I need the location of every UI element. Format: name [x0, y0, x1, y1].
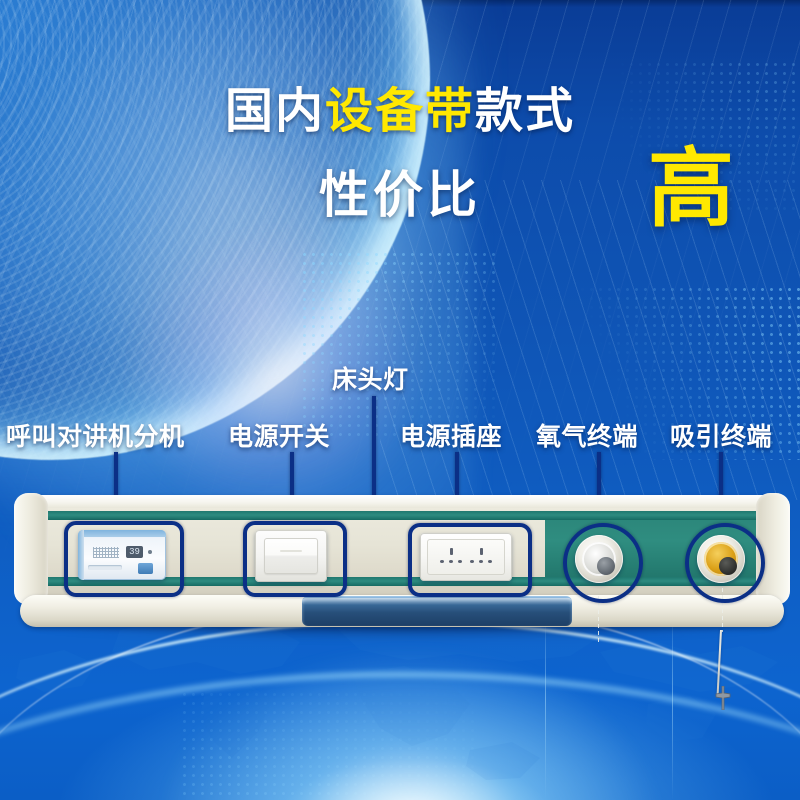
- callout-label-bed-lamp: 床头灯: [332, 360, 409, 396]
- highlight-circle-oxygen: [563, 523, 643, 603]
- callout-label-power-switch: 电源开关: [228, 417, 330, 453]
- halftone-dots-left: [300, 250, 500, 440]
- highlight-circle-suction: [685, 523, 765, 603]
- oxygen-hose-line: [598, 596, 599, 644]
- headline-part1: 国内: [225, 85, 325, 138]
- headline-part3: 款式: [475, 85, 575, 138]
- highlight-box-power-socket: [408, 523, 532, 597]
- highlight-box-intercom: [64, 521, 184, 597]
- product-banner: 国内设备带款式 性价比 高 呼叫对讲机分机 电源开关 床头灯 电源插座 氧气终端…: [0, 0, 800, 800]
- callout-label-power-socket: 电源插座: [400, 417, 502, 453]
- pull-cord-handle[interactable]: [714, 686, 732, 710]
- highlight-box-power-switch: [243, 521, 347, 597]
- callout-label-oxygen: 氧气终端: [536, 417, 638, 453]
- panel-top-highlight: [18, 495, 786, 508]
- panel-end-cap-left: [14, 493, 48, 605]
- panel-blue-rail-segment: [302, 596, 572, 626]
- panel-stripe-top: [18, 511, 786, 520]
- headline: 国内设备带款式: [0, 88, 800, 136]
- callout-label-suction: 吸引终端: [670, 417, 772, 453]
- emphasis-character: 高: [648, 146, 734, 232]
- callout-label-intercom: 呼叫对讲机分机: [6, 417, 185, 453]
- headline-part2: 设备带: [325, 85, 475, 138]
